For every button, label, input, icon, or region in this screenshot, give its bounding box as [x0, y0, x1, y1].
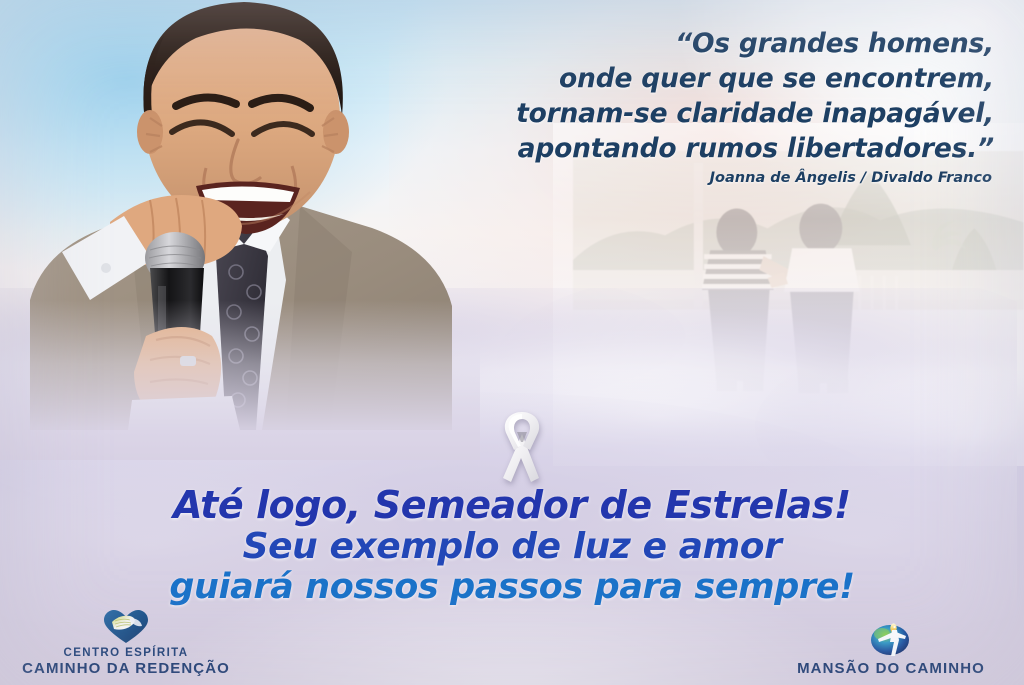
headline-line-1: Até logo, Semeador de Estrelas!	[0, 484, 1024, 526]
quote-line-3: tornam-se claridade inapagável,	[434, 96, 994, 131]
centro-espirita-line-1: CENTRO ESPÍRITA	[6, 647, 246, 660]
globe-figure-flame-logo-icon	[868, 616, 914, 658]
quote-line-1: “Os grandes homens,	[434, 26, 994, 61]
heart-hands-logo-icon	[103, 609, 149, 645]
quote-line-4: apontando rumos libertadores.”	[434, 131, 994, 166]
memorial-poster: “Os grandes homens, onde quer que se enc…	[0, 0, 1024, 685]
mansao-do-caminho-logo: MANSÃO DO CAMINHO	[766, 616, 1016, 677]
man-with-microphone-portrait	[0, 0, 480, 430]
white-awareness-ribbon-icon	[487, 408, 557, 486]
quote-text: “Os grandes homens, onde quer que se enc…	[434, 26, 994, 166]
quote-line-2: onde quer que se encontrem,	[434, 61, 994, 96]
quote-attribution: Joanna de Ângelis / Divaldo Franco	[432, 170, 992, 186]
headline-line-3: guiará nossos passos para sempre!	[0, 567, 1024, 608]
centro-espirita-logo: CENTRO ESPÍRITA CAMINHO DA REDENÇÃO	[6, 609, 246, 677]
memorial-headline: Até logo, Semeador de Estrelas! Seu exem…	[0, 484, 1024, 608]
headline-line-2: Seu exemplo de luz e amor	[0, 526, 1024, 567]
centro-espirita-line-2: CAMINHO DA REDENÇÃO	[6, 660, 246, 677]
mansao-do-caminho-label: MANSÃO DO CAMINHO	[766, 660, 1016, 677]
